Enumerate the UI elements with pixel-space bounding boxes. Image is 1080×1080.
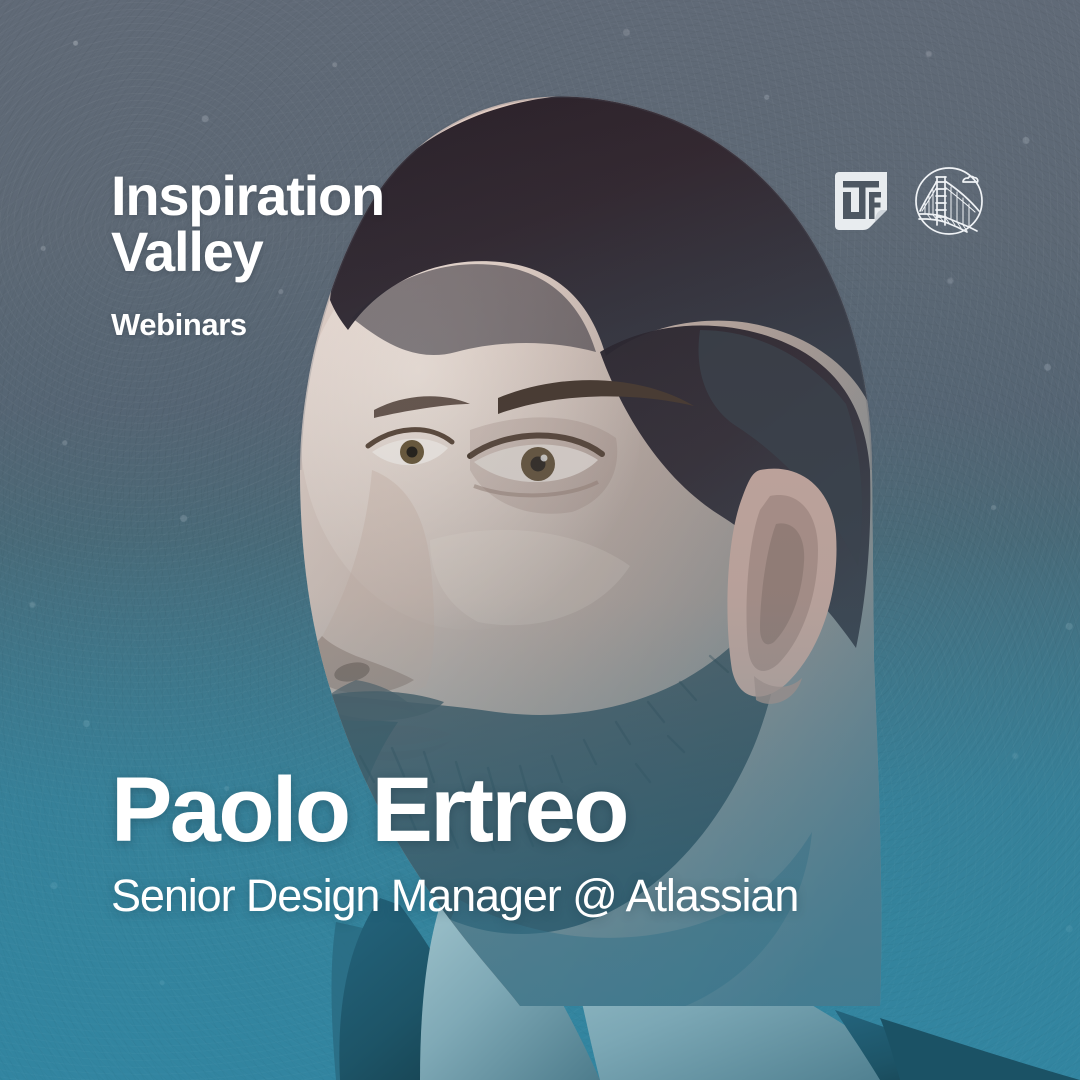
brand-block: InspirationValley Webinars	[111, 168, 384, 342]
webinar-speaker-card: InspirationValley Webinars	[0, 0, 1080, 1080]
golden-gate-bridge-logo	[913, 165, 985, 237]
logo-group	[831, 165, 985, 237]
brand-title-line-2: Valley	[111, 220, 263, 283]
brand-subtitle: Webinars	[111, 308, 384, 342]
speaker-role: Senior Design Manager @ Atlassian	[111, 872, 798, 920]
speaker-block: Paolo Ertreo Senior Design Manager @ Atl…	[111, 764, 798, 920]
ltf-monogram-logo	[831, 170, 891, 232]
brand-title-line-1: Inspiration	[111, 164, 384, 227]
speaker-name: Paolo Ertreo	[111, 764, 798, 856]
page-title: InspirationValley	[111, 168, 384, 280]
